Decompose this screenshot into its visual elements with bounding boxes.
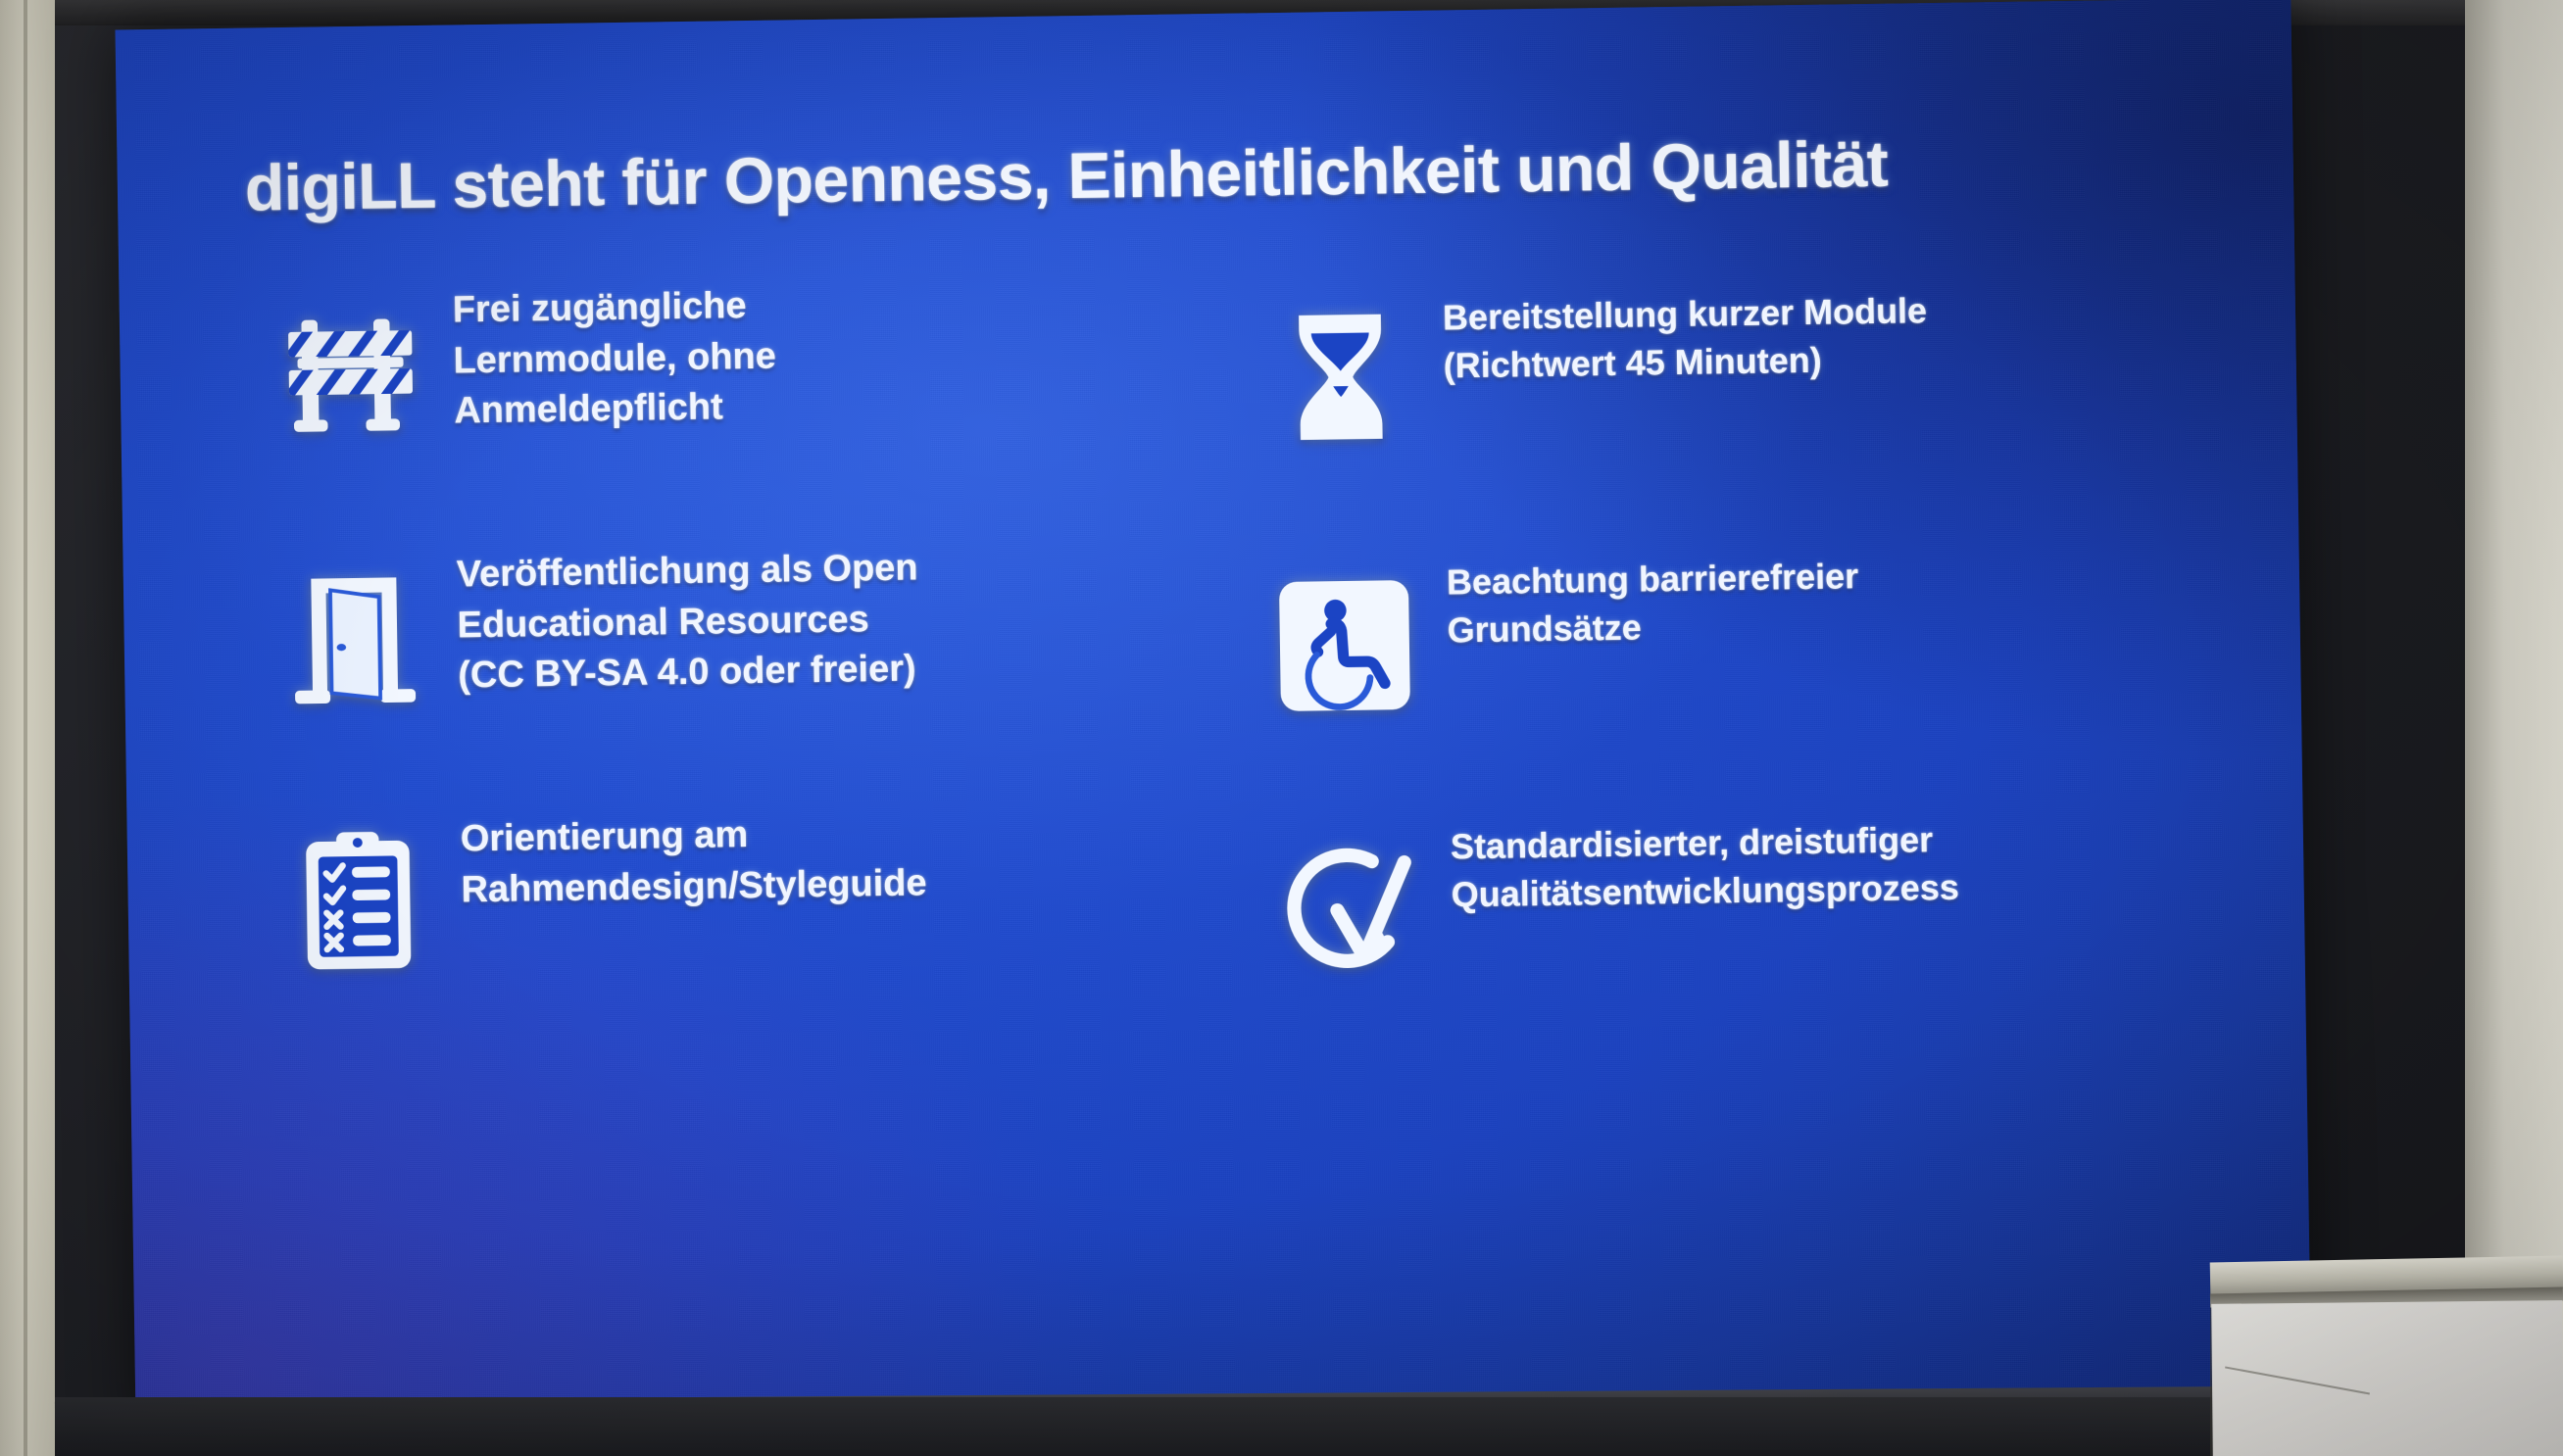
wall-seam (24, 0, 27, 1456)
feature-item: Frei zugängliche Lernmodule, ohne Anmeld… (246, 268, 1112, 546)
feature-item: Orientierung am Rahmendesign/Styleguide (254, 797, 1120, 1074)
flipchart-foreground (2210, 1245, 2563, 1456)
flipchart-paper-sheet (2211, 1300, 2563, 1456)
open-door-icon (250, 542, 459, 731)
feature-columns: Frei zugängliche Lernmodule, ohne Anmeld… (246, 252, 2218, 1098)
flipchart-paper-crease (2225, 1366, 2370, 1394)
feature-item-text: Veröffentlichung als Open Educational Re… (456, 533, 1114, 703)
feature-item-text: Standardisierter, dreistufiger Qualitäts… (1451, 805, 2108, 919)
feature-line: (CC BY-SA 4.0 oder freier) (458, 642, 1115, 703)
feature-line: Grundsätze (1447, 597, 2104, 655)
wheelchair-accessibility-icon (1241, 551, 1450, 740)
feature-item: Beachtung barrierefreier Grundsätze (1241, 542, 2107, 819)
clipboard-checklist-icon (254, 806, 463, 995)
feature-item-text: Frei zugängliche Lernmodule, ohne Anmeld… (452, 268, 1110, 438)
feature-item-text: Orientierung am Rahmendesign/Styleguide (460, 797, 1118, 915)
feature-item-text: Bereitstellung kurzer Module (Richtwert … (1443, 277, 2100, 391)
hourglass-icon (1237, 286, 1446, 475)
slide-title: digiLL steht für Openness, Einheitlichke… (244, 122, 2166, 225)
wall-left-strip (0, 0, 55, 1456)
feature-item: Veröffentlichung als Open Educational Re… (250, 533, 1116, 810)
feature-line: (Richtwert 45 Minuten) (1443, 332, 2100, 390)
projected-slide: digiLL steht für Openness, Einheitlichke… (115, 0, 2311, 1434)
feature-line: Rahmendesign/Styleguide (461, 855, 1118, 916)
feature-item: Standardisierter, dreistufiger Qualitäts… (1245, 805, 2111, 1083)
wall-right-strip (2465, 0, 2563, 1456)
feature-line: Anmeldepflicht (454, 377, 1111, 438)
barrier-icon (246, 277, 455, 466)
feature-item-text: Beachtung barrierefreier Grundsätze (1447, 542, 2104, 655)
projection-room-photo: digiLL steht für Openness, Einheitlichke… (0, 0, 2563, 1456)
feature-column-left: Frei zugängliche Lernmodule, ohne Anmeld… (246, 268, 1120, 1098)
feature-item: Bereitstellung kurzer Module (Richtwert … (1237, 277, 2103, 555)
feature-line: Qualitätsentwicklungsprozess (1451, 861, 2108, 919)
feature-column-right: Bereitstellung kurzer Module (Richtwert … (1236, 254, 2110, 1084)
check-cycle-icon (1245, 815, 1454, 1004)
screen-bottom-surround (55, 1397, 2465, 1456)
